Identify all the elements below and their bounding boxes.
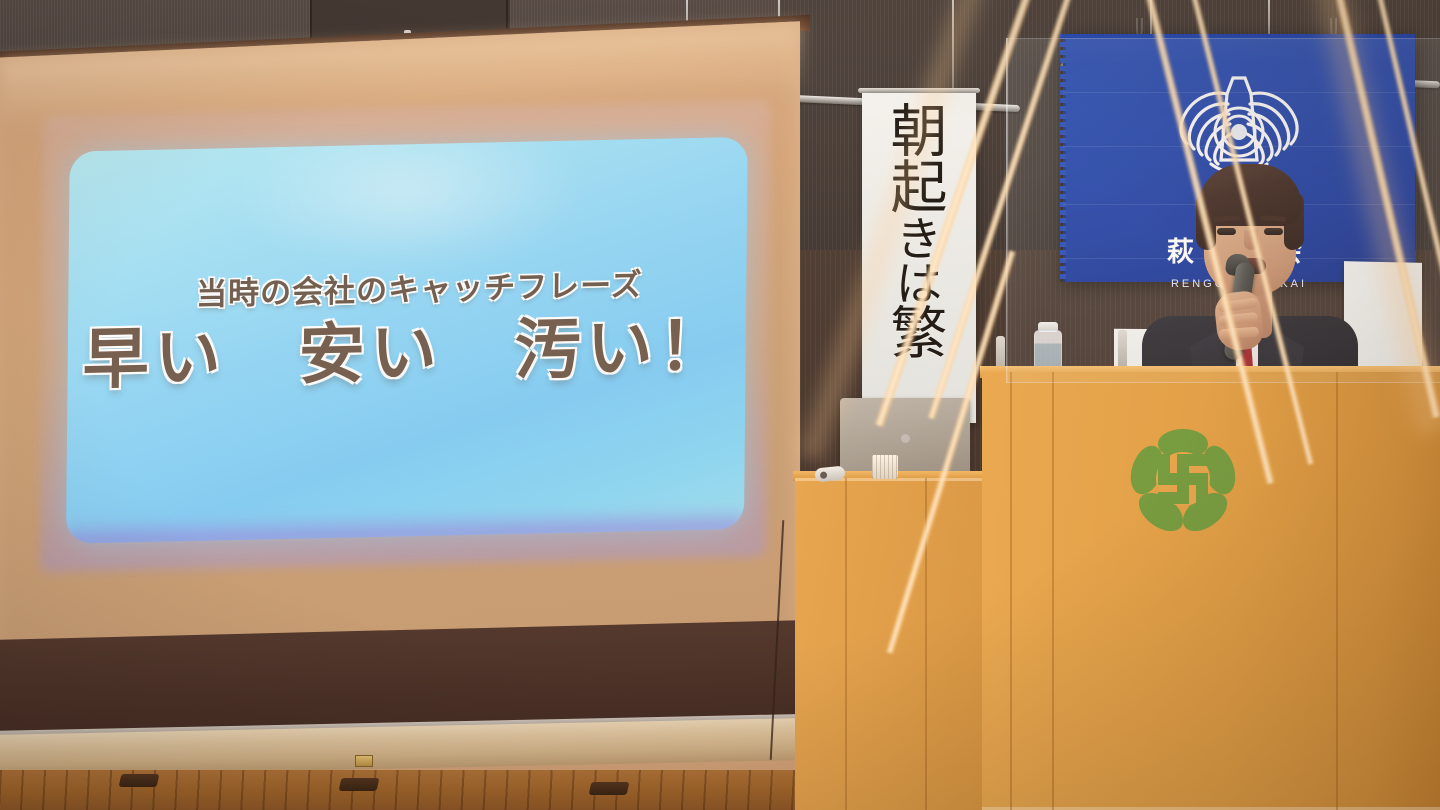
calligraphy-scroll: 朝 起 き は 繁: [862, 93, 976, 423]
side-table-seam: [925, 478, 927, 810]
remote-button[interactable]: [820, 471, 828, 479]
paper-cup: [872, 455, 898, 479]
scroll-char: 朝: [891, 105, 948, 161]
brass-plaque: [355, 755, 373, 767]
acrylic-shield-edge: [1006, 38, 1008, 383]
scroll-char: き: [896, 217, 942, 262]
seminar-hall-photo: ⑥ 当時の会社のキャッチフレーズ 早い 安い 汚い！ 朝 起 き は 繁: [0, 0, 1440, 810]
acrylic-shield: [1006, 38, 1440, 383]
slide-content: 当時の会社のキャッチフレーズ 早い 安い 汚い！: [67, 257, 746, 399]
cup-ribbing: [872, 455, 898, 479]
backdrop-foot: [339, 778, 380, 791]
backdrop-foot: [119, 774, 160, 787]
backdrop-foot: [589, 782, 630, 795]
slide-surface: 当時の会社のキャッチフレーズ 早い 安い 汚い！: [66, 137, 748, 544]
hagi-city-crest: [1125, 424, 1241, 534]
scroll-char: 繁: [891, 307, 948, 363]
slide-subtitle: 当時の会社のキャッチフレーズ: [92, 257, 746, 316]
laptop: [840, 398, 970, 476]
side-table-seam: [845, 478, 847, 810]
scroll-char: 起: [891, 161, 948, 217]
podium-seam: [1052, 372, 1054, 810]
laptop-logo: [901, 434, 910, 443]
side-table: [795, 478, 985, 810]
slide-headline: 早い 安い 汚い！: [67, 308, 746, 399]
podium-seam: [1336, 372, 1338, 810]
slide-sheen: [231, 137, 585, 274]
podium-seam: [1010, 372, 1012, 810]
suspension-wire: [952, 0, 954, 96]
projection-screen: ⑥ 当時の会社のキャッチフレーズ 早い 安い 汚い！: [48, 110, 764, 566]
